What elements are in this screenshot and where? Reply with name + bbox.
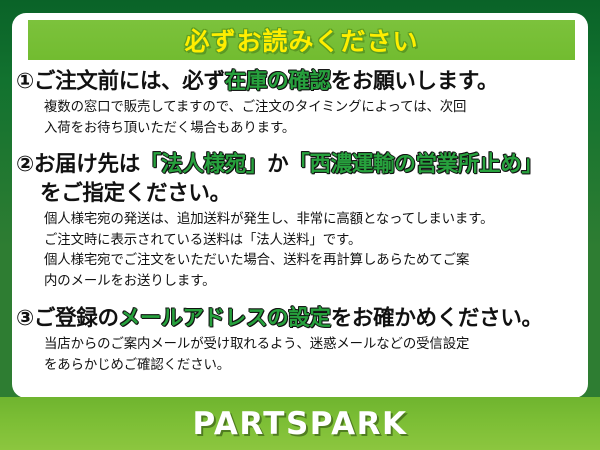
item-3-text-a: ご登録の bbox=[34, 306, 119, 331]
item-3-marker: ③ bbox=[16, 306, 34, 331]
item-3-subline: をあらかじめご確認ください。 bbox=[44, 356, 582, 377]
item-2-subtext: 個人様宅宛の発送は、追加送料が発生し、非常に高額となってしまいます。 ご注文時に… bbox=[16, 210, 582, 292]
item-2-marker: ② bbox=[16, 152, 34, 177]
item-3-highlight: メールアドレスの設定 bbox=[119, 306, 331, 331]
header-banner: 必ずお読みください bbox=[28, 20, 575, 60]
page-title: 必ずお読みください bbox=[184, 22, 418, 58]
item-2-highlight-b: 「西濃運輸の営業所止め」 bbox=[288, 152, 542, 177]
brand-logo: PARTSPARK bbox=[192, 406, 407, 442]
item-3-text-b: をお確かめください。 bbox=[331, 306, 543, 331]
list-item: ③ご登録のメールアドレスの設定をお確かめください。 当店からのご案内メールが受け… bbox=[12, 304, 588, 376]
item-2-subline: 個人様宅宛の発送は、追加送料が発生し、非常に高額となってしまいます。 bbox=[44, 210, 582, 231]
item-2-heading-line2: をご指定ください。 bbox=[16, 179, 582, 208]
item-1-marker: ① bbox=[16, 69, 34, 94]
item-1-text-b: をお願いします。 bbox=[331, 69, 498, 94]
notice-list: ①ご注文前には、必ず在庫の確認をお願いします。 複数の窓口で販売してますので、ご… bbox=[12, 67, 588, 376]
item-3-heading: ③ご登録のメールアドレスの設定をお確かめください。 bbox=[16, 304, 582, 333]
item-1-subline: 複数の窓口で販売してますので、ご注文のタイミングによっては、次回 bbox=[44, 98, 582, 119]
item-2-text-a: お届け先は bbox=[34, 152, 140, 177]
item-1-heading: ①ご注文前には、必ず在庫の確認をお願いします。 bbox=[16, 67, 582, 96]
item-2-subline: 内のメールをお送りします。 bbox=[44, 272, 582, 293]
item-2-subline: ご注文時に表示されている送料は「法人送料」です。 bbox=[44, 231, 582, 252]
list-item: ②お届け先は「法人様宛」か「西濃運輸の営業所止め」 をご指定ください。 個人様宅… bbox=[12, 150, 588, 292]
notice-frame: 必ずお読みください ①ご注文前には、必ず在庫の確認をお願いします。 複数の窓口で… bbox=[0, 0, 600, 450]
list-item: ①ご注文前には、必ず在庫の確認をお願いします。 複数の窓口で販売してますので、ご… bbox=[12, 67, 588, 139]
item-2-text-b: か bbox=[267, 152, 288, 177]
item-1-highlight: 在庫の確認 bbox=[225, 69, 331, 94]
item-2-subline: 個人様宅宛でご注文をいただいた場合、送料を再計算しあらためてご案 bbox=[44, 251, 582, 272]
item-1-subtext: 複数の窓口で販売してますので、ご注文のタイミングによっては、次回 入荷をお待ち頂… bbox=[16, 98, 582, 139]
item-1-text-a: ご注文前には、必ず bbox=[34, 69, 225, 94]
footer-band: PARTSPARK bbox=[0, 397, 600, 450]
item-2-heading: ②お届け先は「法人様宛」か「西濃運輸の営業所止め」 bbox=[16, 150, 582, 179]
item-3-subtext: 当店からのご案内メールが受け取れるよう、迷惑メールなどの受信設定 をあらかじめご… bbox=[16, 335, 582, 376]
content-panel: 必ずお読みください ①ご注文前には、必ず在庫の確認をお願いします。 複数の窓口で… bbox=[12, 13, 588, 398]
item-3-subline: 当店からのご案内メールが受け取れるよう、迷惑メールなどの受信設定 bbox=[44, 335, 582, 356]
item-2-highlight-a: 「法人様宛」 bbox=[140, 152, 267, 177]
item-1-subline: 入荷をお待ち頂いただく場合もあります。 bbox=[44, 119, 582, 140]
